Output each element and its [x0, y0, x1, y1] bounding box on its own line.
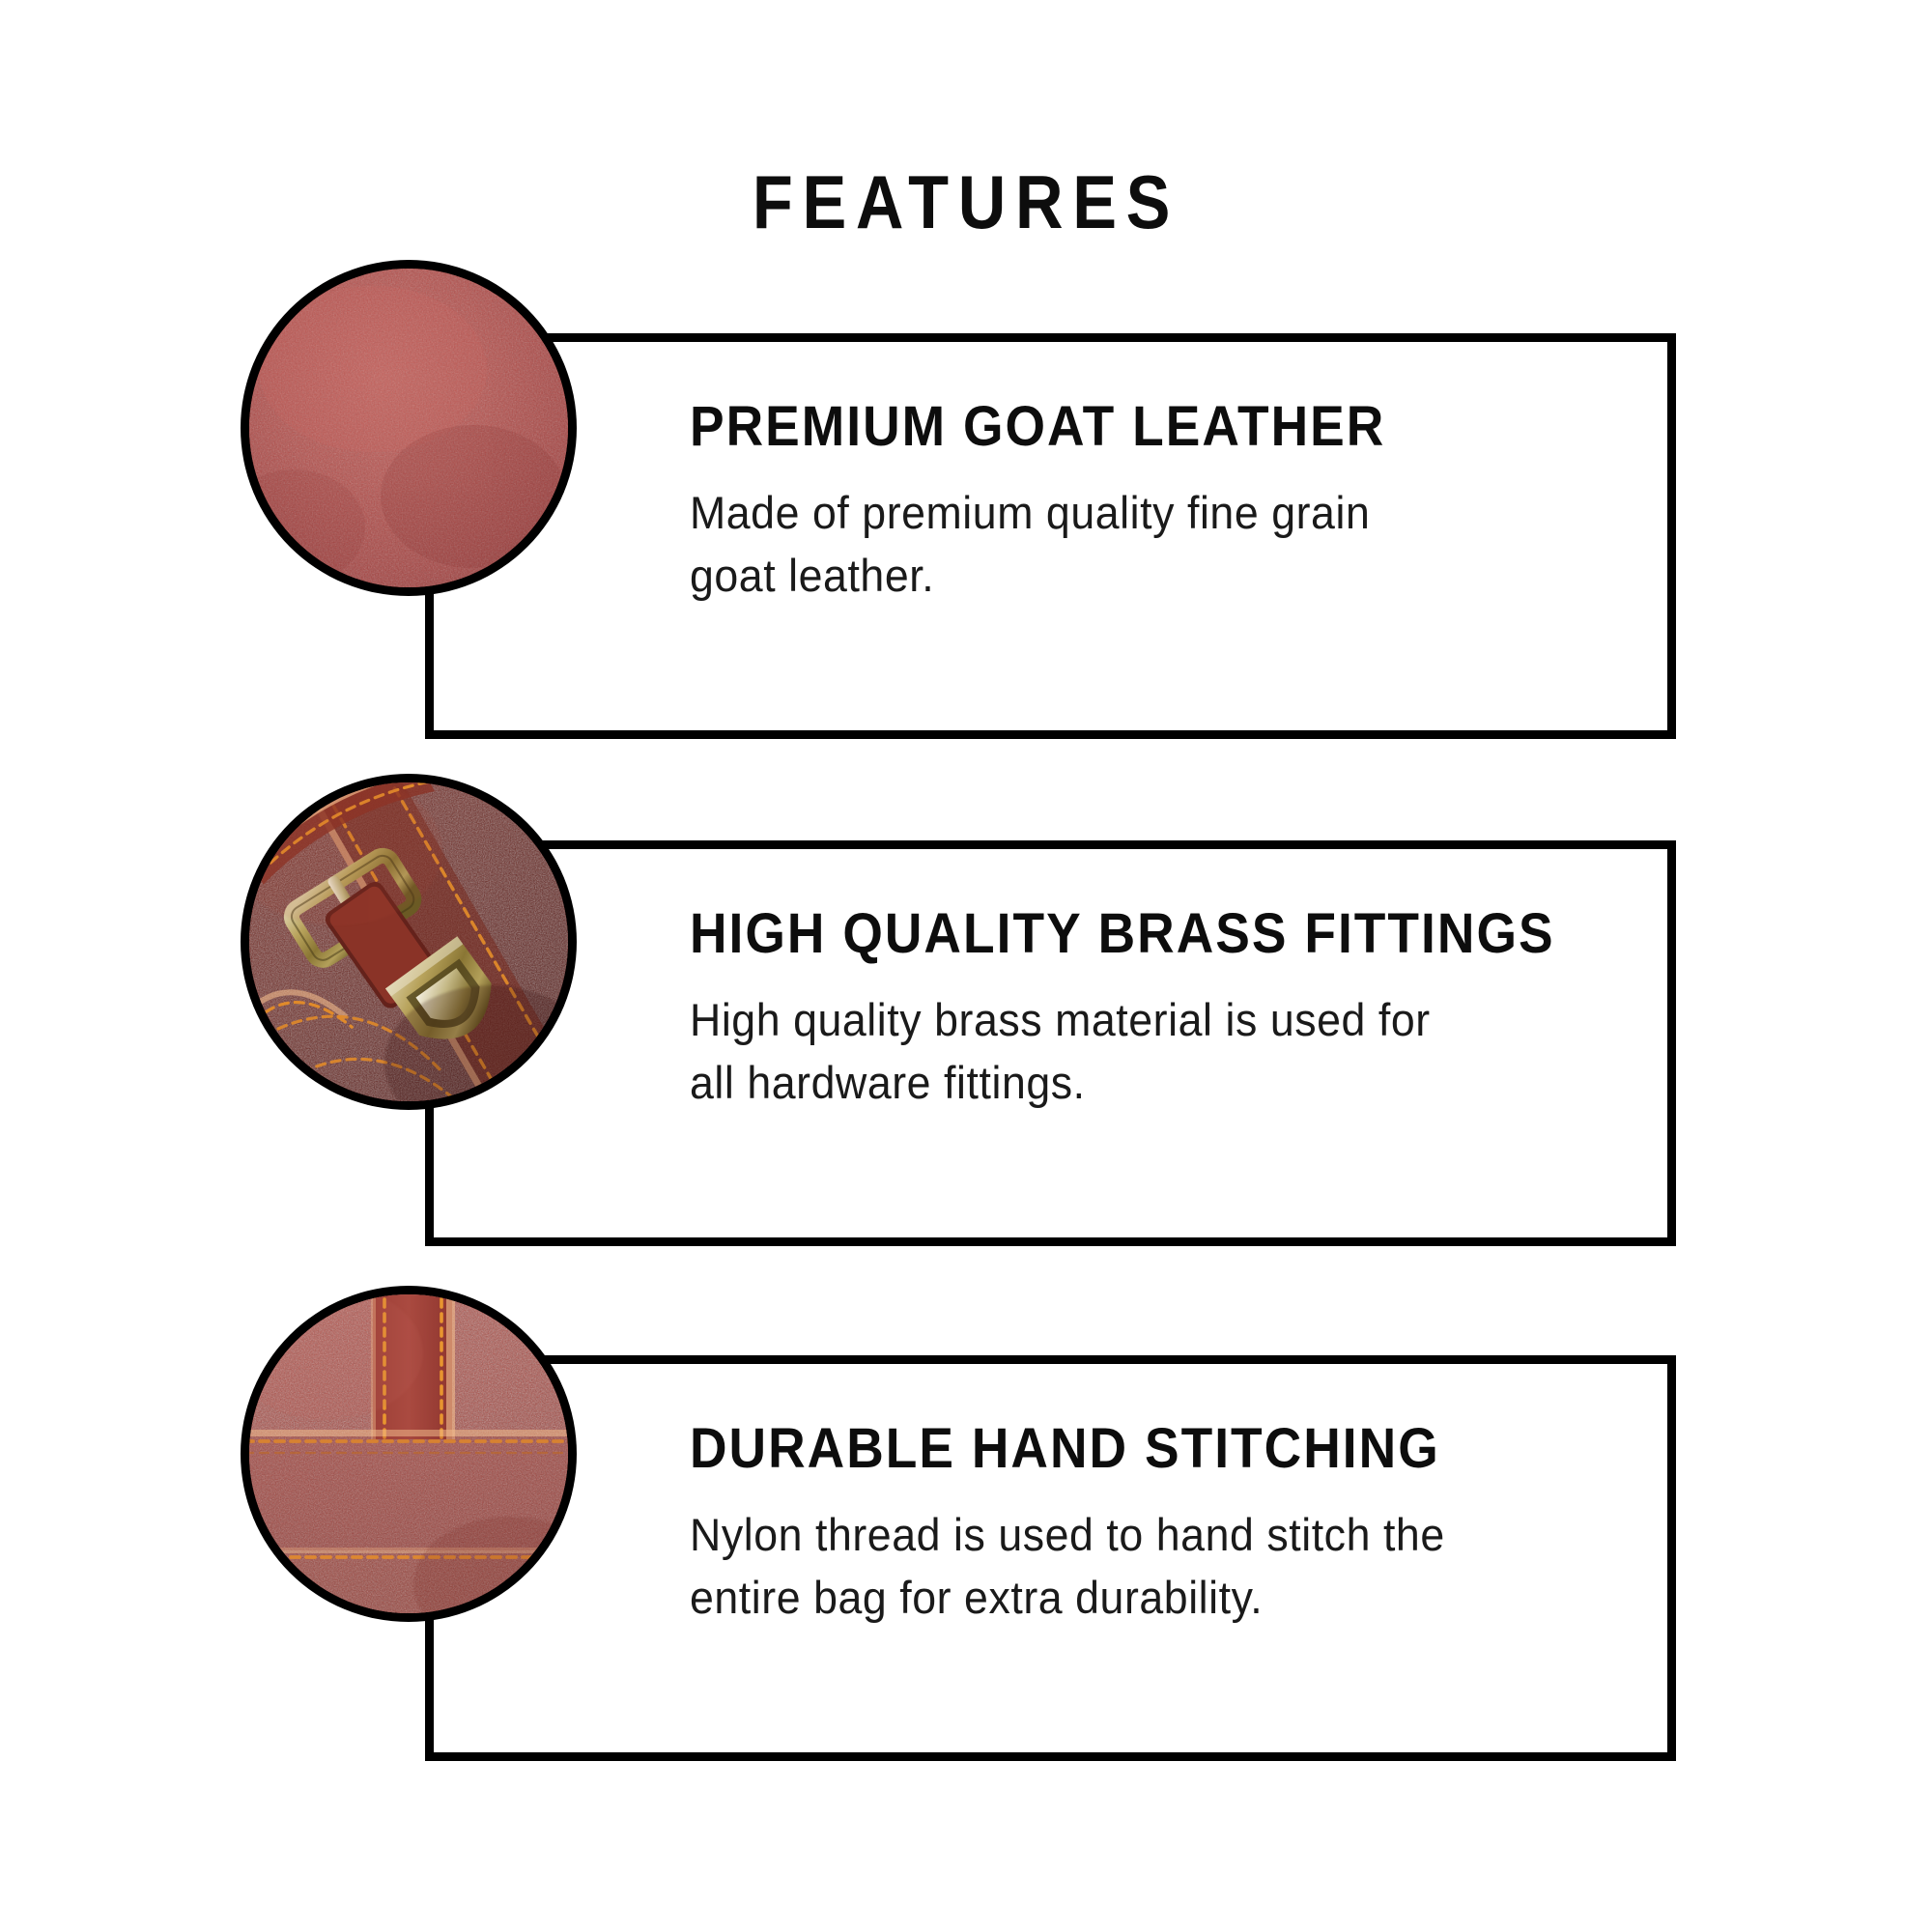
page-title: FEATURES [116, 164, 1816, 240]
feature-body-line: Made of premium quality fine grain [690, 482, 1617, 545]
feature-body-line: High quality brass material is used for [690, 989, 1617, 1052]
feature-body-line: entire bag for extra durability. [690, 1567, 1617, 1630]
feature-body-line: Nylon thread is used to hand stitch the [690, 1504, 1617, 1567]
feature-body: Nylon thread is used to hand stitch the … [690, 1504, 1617, 1630]
feature-heading: DURABLE HAND STITCHING [690, 1420, 1587, 1479]
feature-card-premium-goat-leather: PREMIUM GOAT LEATHER Made of premium qua… [425, 333, 1676, 739]
feature-heading: HIGH QUALITY BRASS FITTINGS [690, 905, 1587, 964]
brass-buckle-image [249, 782, 568, 1101]
feature-body-line: goat leather. [690, 545, 1617, 608]
feature-card-durable-hand-stitching: DURABLE HAND STITCHING Nylon thread is u… [425, 1355, 1676, 1761]
features-infographic: FEATURES PREMIUM GOAT LEATHER Made of pr… [0, 0, 1932, 1932]
feature-body: Made of premium quality fine grain goat … [690, 482, 1617, 608]
leather-swatch-photo [249, 269, 568, 587]
feature-text-block: PREMIUM GOAT LEATHER Made of premium qua… [690, 398, 1665, 608]
leather-swatch-image [249, 269, 568, 587]
brass-buckle-photo [249, 782, 568, 1101]
feature-body: High quality brass material is used for … [690, 989, 1617, 1115]
hand-stitching-image [249, 1294, 568, 1613]
feature-text-block: HIGH QUALITY BRASS FITTINGS High quality… [690, 905, 1665, 1115]
feature-row-durable-hand-stitching: DURABLE HAND STITCHING Nylon thread is u… [0, 1331, 1932, 1776]
feature-heading: PREMIUM GOAT LEATHER [690, 398, 1587, 457]
hand-stitching-photo [249, 1294, 568, 1613]
feature-body-line: all hardware fittings. [690, 1052, 1617, 1115]
feature-text-block: DURABLE HAND STITCHING Nylon thread is u… [690, 1420, 1665, 1630]
feature-card-high-quality-brass-fittings: HIGH QUALITY BRASS FITTINGS High quality… [425, 840, 1676, 1246]
feature-row-high-quality-brass-fittings: HIGH QUALITY BRASS FITTINGS High quality… [0, 816, 1932, 1261]
feature-row-premium-goat-leather: PREMIUM GOAT LEATHER Made of premium qua… [0, 309, 1932, 753]
